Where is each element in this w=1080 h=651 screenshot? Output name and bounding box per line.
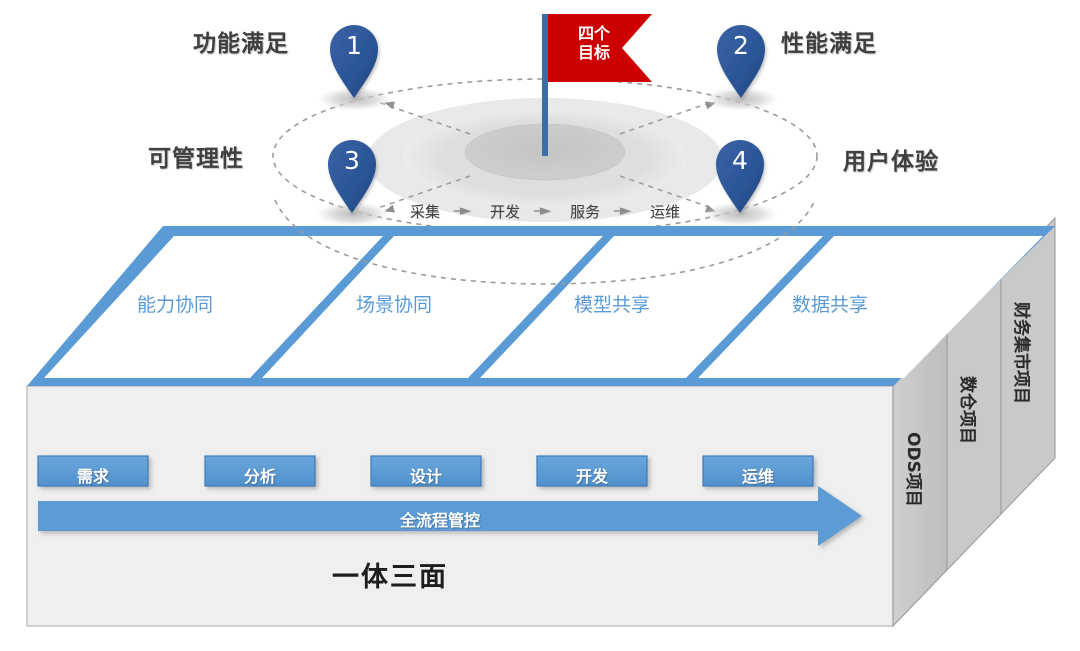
goal-label-2: 性能满足 — [781, 24, 877, 58]
top-panel-label-4[interactable]: 数据共享 — [760, 290, 900, 317]
flow-arrow-1: --► — [453, 201, 469, 219]
goal-pin-number-3: 3 — [331, 146, 373, 175]
flag-text-line1: 四个 — [563, 24, 625, 43]
goal-pin-number-2: 2 — [720, 31, 762, 60]
flow-step-1: 采集 — [410, 201, 440, 222]
diagram-vector-layer — [0, 0, 1080, 651]
goal-label-4: 用户体验 — [843, 142, 939, 176]
side-panel-label-finance[interactable]: 财务集市项目 — [1011, 302, 1036, 404]
top-panel-label-3[interactable]: 模型共享 — [542, 290, 682, 317]
flag-text-line2: 目标 — [563, 43, 625, 62]
stage-label-5[interactable]: 运维 — [703, 463, 813, 487]
stage-label-1[interactable]: 需求 — [38, 463, 148, 487]
flow-arrow-2: --► — [533, 201, 549, 219]
process-arrow-label: 全流程管控 — [330, 507, 550, 531]
top-panel-label-2[interactable]: 场景协同 — [324, 290, 464, 317]
footer-label: 一体三面 — [280, 555, 500, 594]
side-panel-label-ods[interactable]: ODS项目 — [903, 432, 928, 507]
goal-pin-number-4: 4 — [719, 146, 761, 175]
stage-label-4[interactable]: 开发 — [537, 463, 647, 487]
stage-label-2[interactable]: 分析 — [205, 463, 315, 487]
flag-pole — [542, 14, 548, 156]
flow-arrow-3: --► — [613, 201, 629, 219]
flow-step-4: 运维 — [650, 201, 680, 222]
goal-pin-number-1: 1 — [333, 31, 375, 60]
top-panel-label-1[interactable]: 能力协同 — [105, 290, 245, 317]
side-panel-label-dw[interactable]: 数仓项目 — [957, 376, 982, 444]
goal-label-1: 功能满足 — [193, 24, 289, 58]
stage-label-3[interactable]: 设计 — [371, 463, 481, 487]
flow-step-2: 开发 — [490, 201, 520, 222]
goal-label-3: 可管理性 — [148, 139, 244, 173]
diagram-canvas: 功能满足 性能满足 可管理性 用户体验 1 2 3 4 四个 目标 采集 --►… — [0, 0, 1080, 651]
flow-step-3: 服务 — [570, 201, 600, 222]
